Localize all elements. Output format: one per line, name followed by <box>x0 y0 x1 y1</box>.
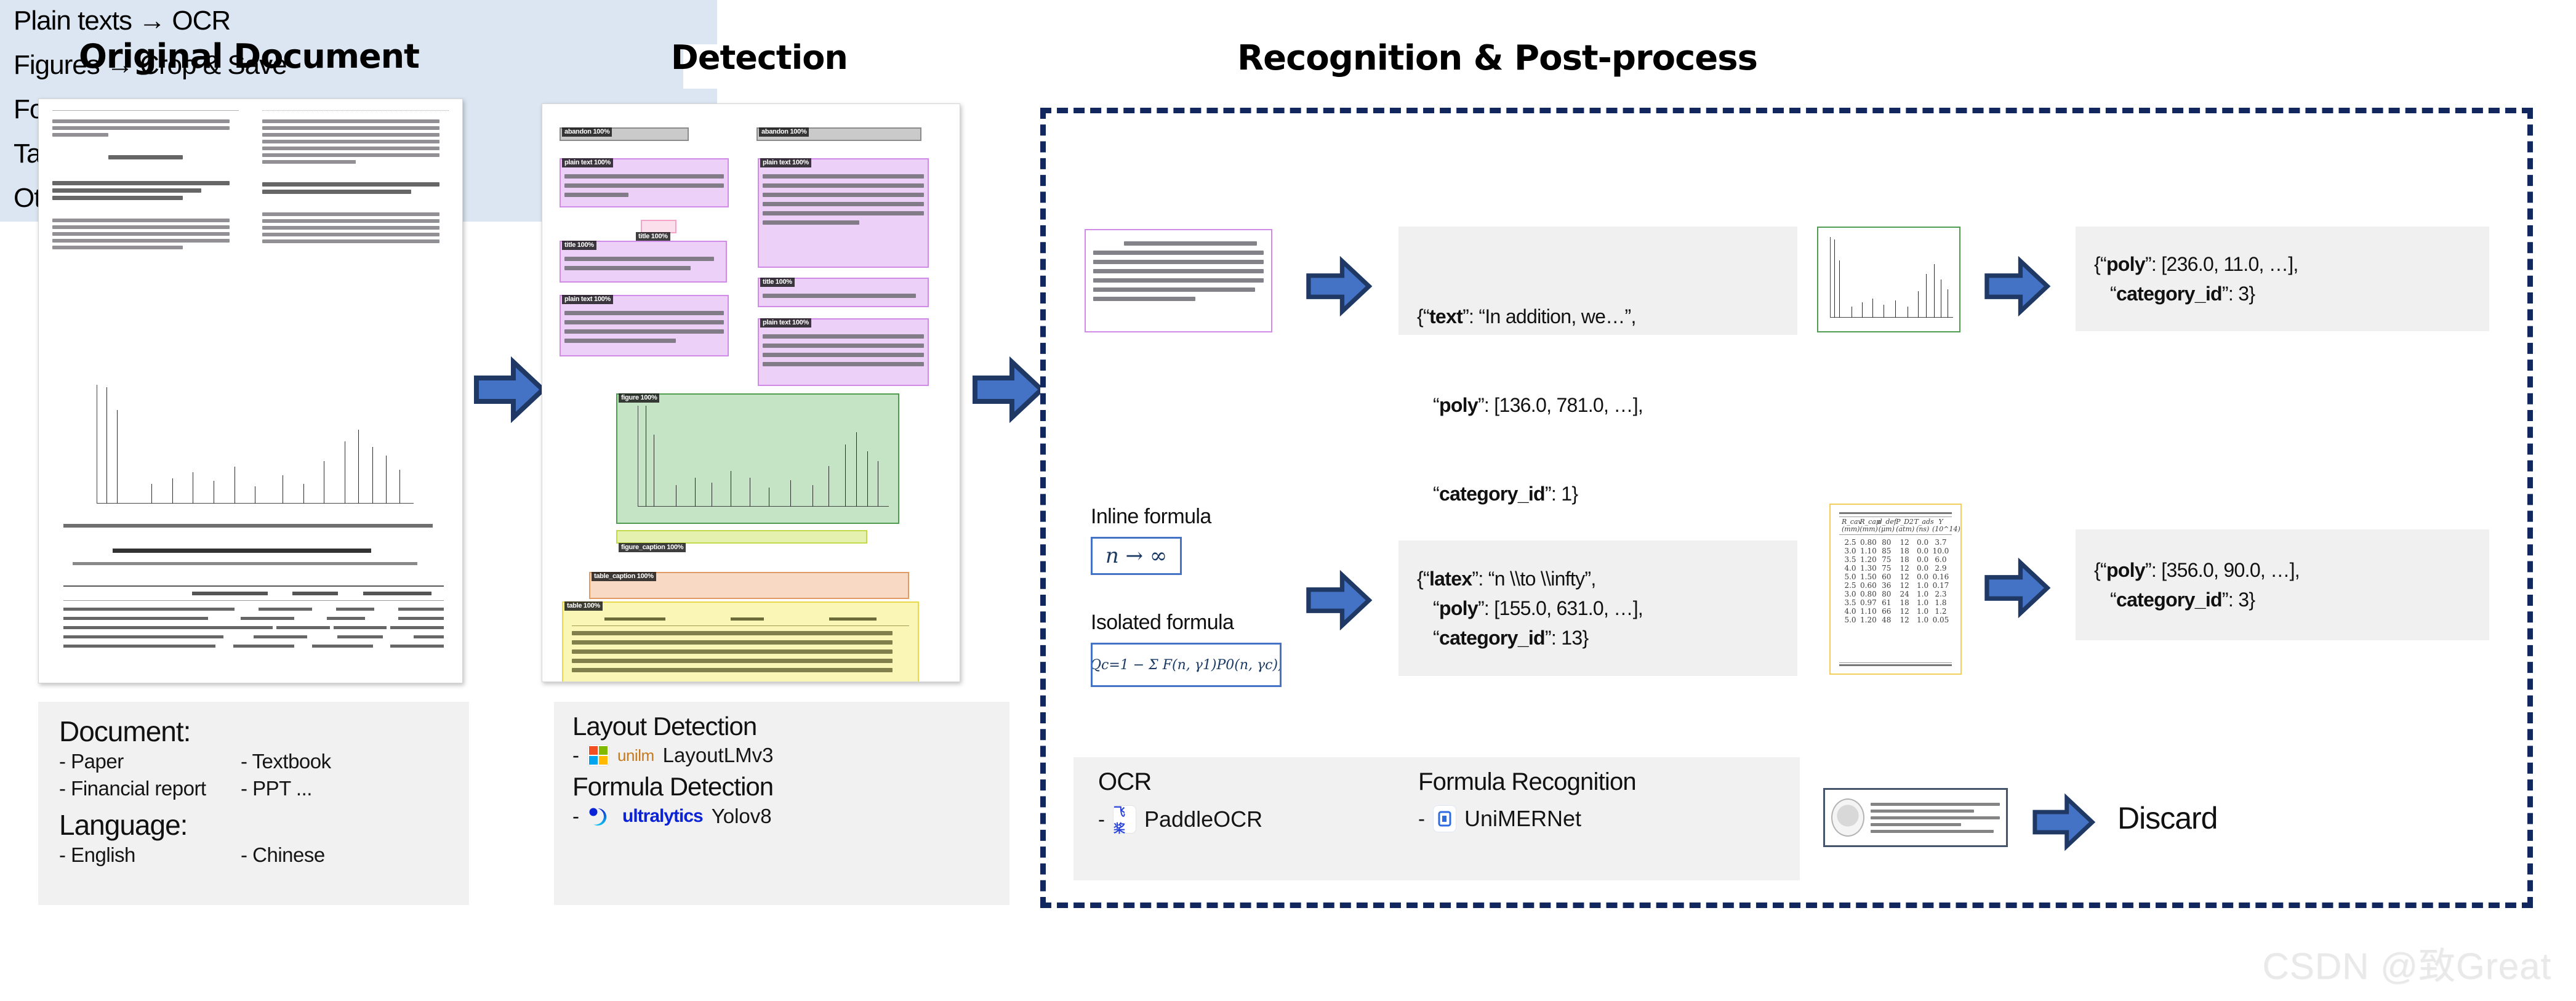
detection-box-figure: figure 100% <box>616 393 899 524</box>
table-cell: 18 <box>1896 547 1913 555</box>
section-title-original-document: Original Document <box>79 37 419 76</box>
json-value-poly: [136.0, 781.0, …] <box>1494 394 1638 416</box>
arrow-figure-to-json <box>1983 255 2051 317</box>
table-col-header: Y (10^14) <box>1932 518 1949 533</box>
table-col-header: P_D2 (atm) <box>1896 518 1913 533</box>
doc-type-financial-report: - Financial report <box>59 775 241 803</box>
language-heading: Language: <box>59 809 448 842</box>
table-cell: 2.3 <box>1932 590 1949 598</box>
plain-text-crop-preview <box>1085 229 1272 332</box>
table-caption-line-2 <box>73 562 417 565</box>
table-col-header: T_ads (ns) <box>1914 518 1932 533</box>
detection-box-title-results: title 100% <box>641 220 676 233</box>
ultralytics-icon <box>588 806 614 826</box>
document-heading: Document: <box>59 715 448 748</box>
formula-json-output: {“latex”: “n \\to \\infty”, “poly”: [155… <box>1398 541 1797 676</box>
formula-model-row: - ultralytics Yolov8 <box>572 805 991 828</box>
table-cell: 3.7 <box>1932 538 1949 547</box>
json-key-category-id: category_id <box>2116 589 2222 611</box>
ocr-title: OCR <box>1098 768 1262 796</box>
json-value-category-id: 1 <box>1561 483 1571 505</box>
table-cell: 75 <box>1878 564 1895 573</box>
figure-crop-preview <box>1817 227 1960 332</box>
table-preview-header-row: R_cav (mm) R_cap (mm) d_def (μm) P_D2 (a… <box>1839 518 1952 533</box>
table-cell: 48 <box>1878 616 1895 624</box>
table-cell: 18 <box>1896 598 1913 607</box>
table-cell: 12 <box>1896 573 1913 581</box>
original-table-block <box>63 585 444 683</box>
table-cell: 80 <box>1878 590 1895 598</box>
table-cell: 1.8 <box>1932 598 1949 607</box>
formula-detection-heading: Formula Detection <box>572 772 991 802</box>
inline-formula-label: Inline formula <box>1091 505 1211 529</box>
table-cell: 1.10 <box>1860 547 1877 555</box>
table-cell: 12 <box>1896 564 1913 573</box>
formula-model-row: - UniMERNet <box>1418 806 1636 832</box>
table-cell: 0.60 <box>1860 581 1877 590</box>
detection-box-plain-text-1: plain text 100% <box>560 158 729 207</box>
layout-model-row: - unilm LayoutLMv3 <box>572 744 991 767</box>
formula-model-name: UniMERNet <box>1464 806 1581 832</box>
doc-type-paper: - Paper <box>59 748 241 776</box>
detection-box-title-saline: title 100% <box>758 278 929 307</box>
table-cell: 0.0 <box>1914 547 1932 555</box>
table-cell: 0.97 <box>1860 598 1877 607</box>
detected-document-page: abandon 100% abandon 100% plain text 100… <box>542 103 960 682</box>
slide-canvas: Original Document Detection Recognition … <box>0 0 2576 1001</box>
table-cell: 2.9 <box>1932 564 1949 573</box>
language-chinese: - Chinese <box>241 842 325 869</box>
detection-box-table-caption: table_caption 100% <box>589 572 909 599</box>
table-cell: 4.0 <box>1842 607 1859 616</box>
table-col-header: R_cap (mm) <box>1860 518 1877 533</box>
inline-formula-expression: n → ∞ <box>1105 544 1167 568</box>
layout-model-name: LayoutLMv3 <box>663 744 774 767</box>
table-row: 4.01.3075120.02.9 <box>1839 564 1952 573</box>
json-value-category-id: 3 <box>2238 589 2249 611</box>
detection-box-plain-text-3: plain text 100% <box>758 158 929 268</box>
ocr-model-column: OCR - 飞桨 PaddleOCR <box>1098 768 1262 833</box>
table-row: 5.01.5060120.00.16 <box>1839 573 1952 581</box>
json-value-poly: [155.0, 631.0, …] <box>1494 597 1638 619</box>
arrow-formula-to-json <box>1305 569 1373 631</box>
json-key-poly: poly <box>1439 597 1478 619</box>
table-cell: 0.0 <box>1914 573 1932 581</box>
table-cell: 0.0 <box>1914 555 1932 564</box>
table-cell: 12 <box>1896 581 1913 590</box>
arrow-others-to-discard <box>2031 793 2096 851</box>
table-cell: 3.0 <box>1842 547 1859 555</box>
microsoft-unilm-icon <box>588 745 609 766</box>
table-cell: 3.5 <box>1842 598 1859 607</box>
original-document-page <box>38 98 463 683</box>
formula-recognition-title: Formula Recognition <box>1418 768 1636 796</box>
recognition-models-strip: OCR - 飞桨 PaddleOCR Formula Recognition -… <box>1073 757 1800 880</box>
detection-box-header-right: abandon 100% <box>756 127 921 141</box>
arrow-original-to-detection <box>473 356 547 424</box>
language-row: - English - Chinese <box>59 842 448 869</box>
table-row: 2.50.6036121.00.17 <box>1839 581 1952 590</box>
table-cell: 61 <box>1878 598 1895 607</box>
json-key-poly: poly <box>1439 394 1478 416</box>
table-col-header: R_cav (mm) <box>1842 518 1859 533</box>
table-row: 2.50.8080120.03.7 <box>1839 538 1952 547</box>
table-cell: 3.0 <box>1842 590 1859 598</box>
table-cell: 1.30 <box>1860 564 1877 573</box>
json-key-latex: latex <box>1429 568 1472 590</box>
json-value-category-id: 13 <box>1561 627 1582 649</box>
paddleocr-icon: 飞桨 <box>1113 806 1136 833</box>
table-cell: 0.0 <box>1914 538 1932 547</box>
unimernet-icon <box>1434 806 1456 832</box>
table-caption-line-1 <box>113 549 371 553</box>
json-value-latex: n \\to \\infty <box>1495 568 1585 590</box>
table-col-header: d_def (μm) <box>1878 518 1895 533</box>
json-key-category-id: category_id <box>1439 483 1545 505</box>
table-cell: 0.05 <box>1932 616 1949 624</box>
arrow-table-to-json <box>1983 557 2051 619</box>
table-cell: 12 <box>1896 616 1913 624</box>
document-type-row: - Financial report - PPT ... <box>59 775 448 803</box>
table-cell: 66 <box>1878 607 1895 616</box>
doc-type-textbook: - Textbook <box>241 748 331 776</box>
json-key-poly: poly <box>2106 559 2145 581</box>
table-cell: 1.50 <box>1860 573 1877 581</box>
journal-seal-icon <box>1831 798 1864 837</box>
table-cell: 18 <box>1896 555 1913 564</box>
table-cell: 1.0 <box>1914 616 1932 624</box>
table-row: 3.00.8080241.02.3 <box>1839 590 1952 598</box>
detection-box-plain-text-4: plain text 100% <box>758 318 929 386</box>
section-title-detection: Detection <box>671 38 848 77</box>
table-cell: 1.2 <box>1932 607 1949 616</box>
csdn-watermark: CSDN @致Great <box>2262 936 2551 990</box>
table-cell: 2.5 <box>1842 538 1859 547</box>
table-cell: 1.10 <box>1860 607 1877 616</box>
table-cell: 1.20 <box>1860 616 1877 624</box>
document-info-card: Document: - Paper - Textbook - Financial… <box>38 702 469 905</box>
table-row: 3.51.2075180.06.0 <box>1839 555 1952 564</box>
language-english: - English <box>59 842 241 869</box>
table-cell: 85 <box>1878 547 1895 555</box>
detection-box-figure-caption: figure_caption 100% <box>616 530 867 544</box>
json-value-text: In addition, we… <box>1485 305 1624 328</box>
table-cell: 6.0 <box>1932 555 1949 564</box>
table-row: 5.01.2048121.00.05 <box>1839 616 1952 624</box>
table-cell: 24 <box>1896 590 1913 598</box>
table-cell: 0.80 <box>1860 590 1877 598</box>
isolated-formula-label: Isolated formula <box>1091 611 1234 635</box>
table-cell: 0.0 <box>1914 564 1932 573</box>
table-crop-preview: R_cav (mm) R_cap (mm) d_def (μm) P_D2 (a… <box>1829 504 1962 675</box>
table-cell: 80 <box>1878 538 1895 547</box>
ocr-model-row: - 飞桨 PaddleOCR <box>1098 806 1262 833</box>
json-key-poly: poly <box>2106 253 2145 275</box>
isolated-formula-crop: Qc=1 − Σ F(n, γ1)P0(n, γc), <box>1091 643 1282 687</box>
table-cell: 0.17 <box>1932 581 1949 590</box>
chromatogram-figure <box>76 376 420 518</box>
detection-box-table: table 100% <box>562 601 919 682</box>
doc-type-ppt: - PPT ... <box>241 775 312 803</box>
isolated-formula-expression: Qc=1 − Σ F(n, γ1)P0(n, γc), <box>1091 657 1282 673</box>
table-cell: 5.0 <box>1842 616 1859 624</box>
discard-action-label: Discard <box>2117 800 2217 836</box>
detection-box-header-left: abandon 100% <box>560 127 689 141</box>
arrow-plaintext-to-json <box>1305 255 1373 317</box>
table-cell: 36 <box>1878 581 1895 590</box>
section-title-recognition-postprocess: Recognition & Post-process <box>1237 38 1757 78</box>
bullet-dash: - <box>1098 808 1105 831</box>
table-cell: 3.5 <box>1842 555 1859 564</box>
detection-box-plain-text-2: plain text 100% <box>560 295 729 356</box>
bullet-dash: - <box>572 805 579 828</box>
table-cell: 0.16 <box>1932 573 1949 581</box>
inline-formula-crop: n → ∞ <box>1091 537 1182 575</box>
detection-box-title-prevalence: title 100% <box>560 241 727 283</box>
bullet-dash: - <box>572 744 579 767</box>
json-value-category-id: 3 <box>2238 283 2249 305</box>
table-cell: 1.0 <box>1914 581 1932 590</box>
table-row: 4.01.1066121.01.2 <box>1839 607 1952 616</box>
figure-json-output: {“poly”: [236.0, 11.0, …], “category_id”… <box>2076 227 2489 331</box>
table-row: 3.50.9761181.01.8 <box>1839 598 1952 607</box>
json-value-poly: [356.0, 90.0, …] <box>2161 559 2295 581</box>
layout-detection-heading: Layout Detection <box>572 712 991 741</box>
document-type-row: - Paper - Textbook <box>59 748 448 776</box>
json-key-category-id: category_id <box>1439 627 1545 649</box>
formula-recognition-model-column: Formula Recognition - UniMERNet <box>1418 768 1636 832</box>
header-footer-crop-preview <box>1823 788 2008 847</box>
bullet-dash: - <box>1418 807 1425 830</box>
plain-text-json-output: {“text”: “In addition, we…”, “poly”: [13… <box>1398 227 1797 335</box>
table-cell: 12 <box>1896 538 1913 547</box>
table-cell: 2.5 <box>1842 581 1859 590</box>
table-cell: 1.0 <box>1914 598 1932 607</box>
detection-info-card: Layout Detection - unilm LayoutLMv3 Form… <box>554 702 1009 905</box>
table-cell: 1.0 <box>1914 607 1932 616</box>
json-key-category-id: category_id <box>2116 283 2222 305</box>
table-cell: 60 <box>1878 573 1895 581</box>
table-cell: 0.80 <box>1860 538 1877 547</box>
unilm-label: unilm <box>617 746 654 765</box>
table-cell: 4.0 <box>1842 564 1859 573</box>
table-cell: 12 <box>1896 607 1913 616</box>
figure-caption-line <box>63 524 433 528</box>
ultralytics-label: ultralytics <box>622 806 703 827</box>
table-cell: 10.0 <box>1932 547 1949 555</box>
json-value-poly: [236.0, 11.0, …] <box>2161 253 2293 275</box>
arrow-detection-to-recognition <box>971 356 1045 424</box>
table-cell: 5.0 <box>1842 573 1859 581</box>
json-key-text: text <box>1429 305 1463 328</box>
ocr-model-name: PaddleOCR <box>1144 806 1262 832</box>
table-cell: 75 <box>1878 555 1895 564</box>
table-row: 3.01.1085180.010.0 <box>1839 547 1952 555</box>
table-json-output: {“poly”: [356.0, 90.0, …], “category_id”… <box>2076 529 2489 640</box>
formula-model-name: Yolov8 <box>712 805 772 828</box>
table-cell: 1.20 <box>1860 555 1877 564</box>
table-cell: 1.0 <box>1914 590 1932 598</box>
